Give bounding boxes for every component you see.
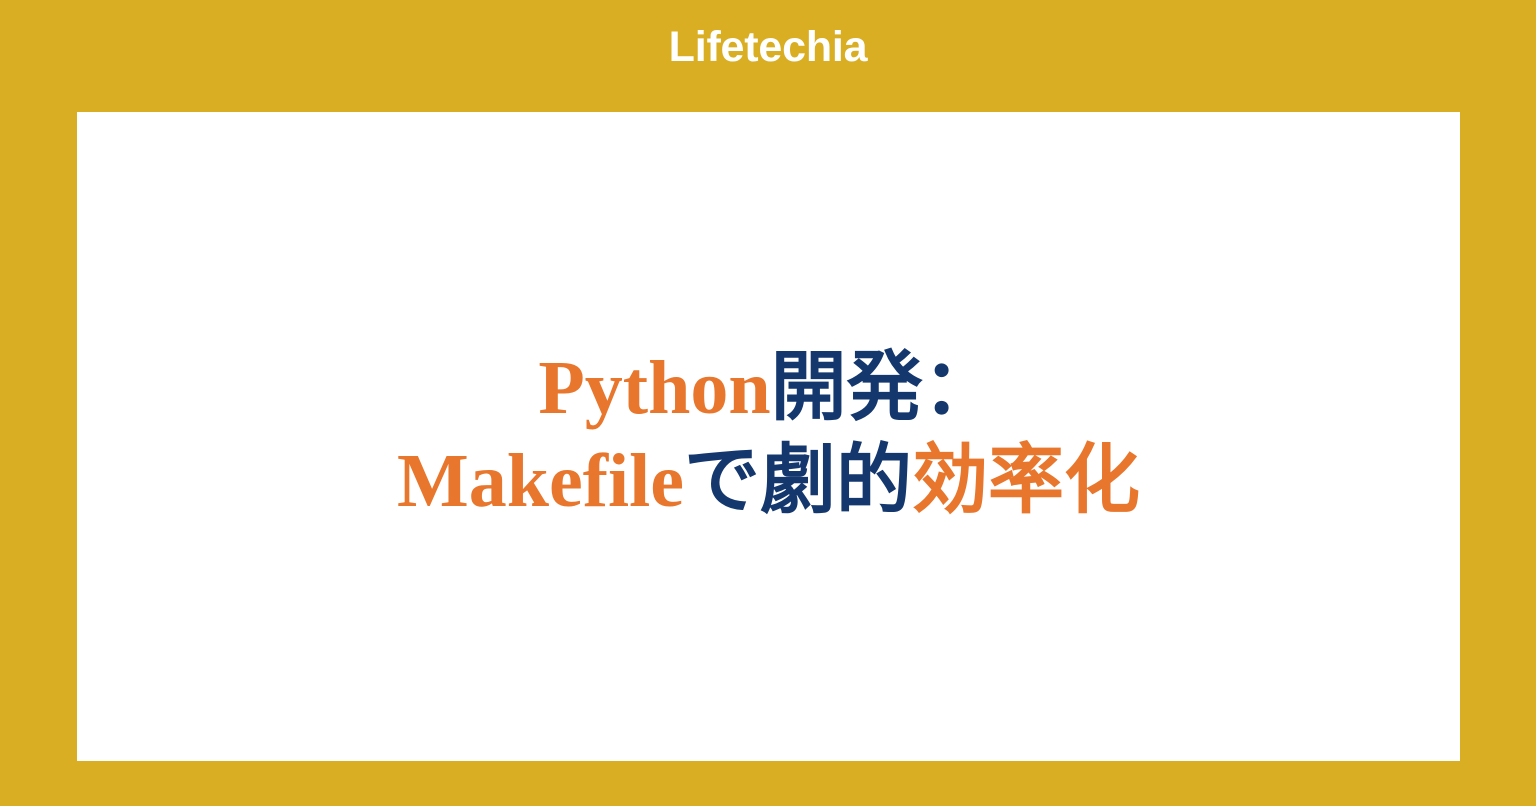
brand-header: Lifetechia: [0, 0, 1536, 112]
headline-line-1: Python開発：: [397, 342, 1140, 435]
headline-segment-de-gekiteki: で劇的: [684, 439, 912, 523]
headline-line-2: Makefileで劇的効率化: [397, 435, 1140, 528]
headline-segment-kaihatsu: 開発：: [771, 346, 999, 430]
headline-segment-python: Python: [538, 346, 770, 430]
brand-title: Lifetechia: [669, 26, 868, 69]
headline-segment-makefile: Makefile: [397, 439, 684, 523]
content-card: Python開発： Makefileで劇的効率化: [77, 112, 1460, 761]
headline-segment-kouritsuka: 効率化: [912, 439, 1140, 523]
poster-canvas: Lifetechia Python開発： Makefileで劇的効率化: [0, 0, 1536, 806]
headline: Python開発： Makefileで劇的効率化: [397, 342, 1140, 527]
